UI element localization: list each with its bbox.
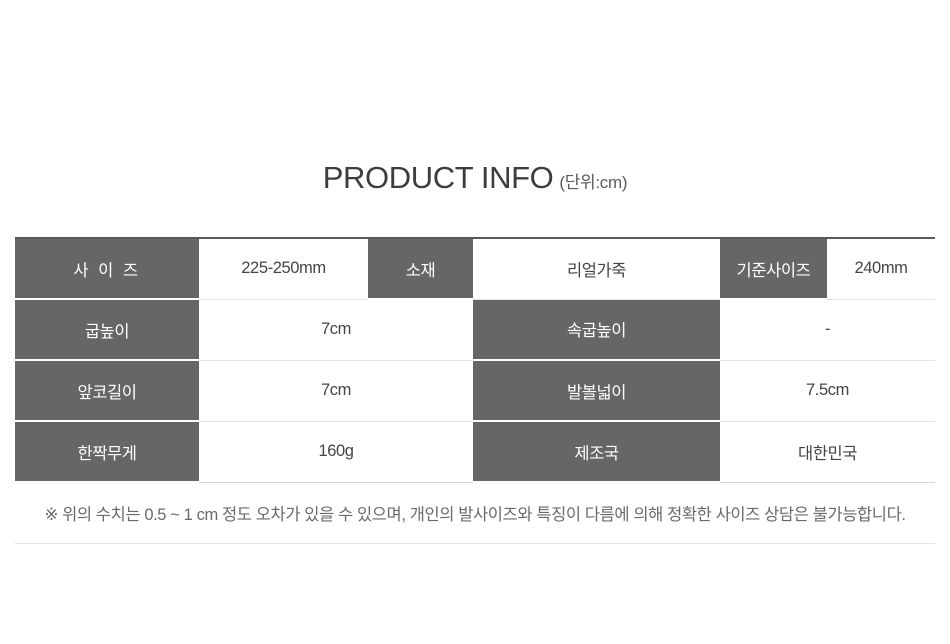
page-title: PRODUCT INFO(단위:cm) [0, 160, 950, 196]
cell-value-inner-heel-height: - [720, 299, 935, 360]
cell-value-size: 225-250mm [199, 238, 368, 299]
cell-value-single-weight: 160g [199, 421, 473, 482]
product-info-page: PRODUCT INFO(단위:cm) 사 이 즈 225-250mm 소재 리… [0, 0, 950, 644]
cell-label-single-weight: 한짝무게 [15, 421, 199, 482]
cell-value-ball-width: 7.5cm [720, 360, 935, 421]
product-info-table: 사 이 즈 225-250mm 소재 리얼가죽 기준사이즈 240mm 굽높이 … [15, 237, 935, 544]
cell-value-toe-length: 7cm [199, 360, 473, 421]
table-row: 한짝무게 160g 제조국 대한민국 [15, 421, 935, 482]
cell-label-material: 소재 [368, 238, 473, 299]
cell-label-toe-length: 앞코길이 [15, 360, 199, 421]
table-row: 굽높이 7cm 속굽높이 - [15, 299, 935, 360]
cell-value-country: 대한민국 [720, 421, 935, 482]
cell-value-heel-height: 7cm [199, 299, 473, 360]
size-disclaimer-note: ※ 위의 수치는 0.5 ~ 1 cm 정도 오차가 있을 수 있으며, 개인의… [15, 482, 935, 543]
cell-label-standard-size: 기준사이즈 [720, 238, 827, 299]
cell-label-heel-height: 굽높이 [15, 299, 199, 360]
page-title-unit: (단위:cm) [559, 173, 627, 192]
page-title-main: PRODUCT INFO [323, 160, 554, 195]
cell-value-standard-size: 240mm [827, 238, 935, 299]
cell-label-size: 사 이 즈 [15, 238, 199, 299]
cell-label-inner-heel-height: 속굽높이 [473, 299, 720, 360]
table-row: 앞코길이 7cm 발볼넓이 7.5cm [15, 360, 935, 421]
table-row: 사 이 즈 225-250mm 소재 리얼가죽 기준사이즈 240mm [15, 238, 935, 299]
cell-label-country: 제조국 [473, 421, 720, 482]
cell-label-ball-width: 발볼넓이 [473, 360, 720, 421]
cell-value-material: 리얼가죽 [473, 238, 720, 299]
table-note-row: ※ 위의 수치는 0.5 ~ 1 cm 정도 오차가 있을 수 있으며, 개인의… [15, 482, 935, 543]
cell-text: 사 이 즈 [73, 262, 140, 280]
